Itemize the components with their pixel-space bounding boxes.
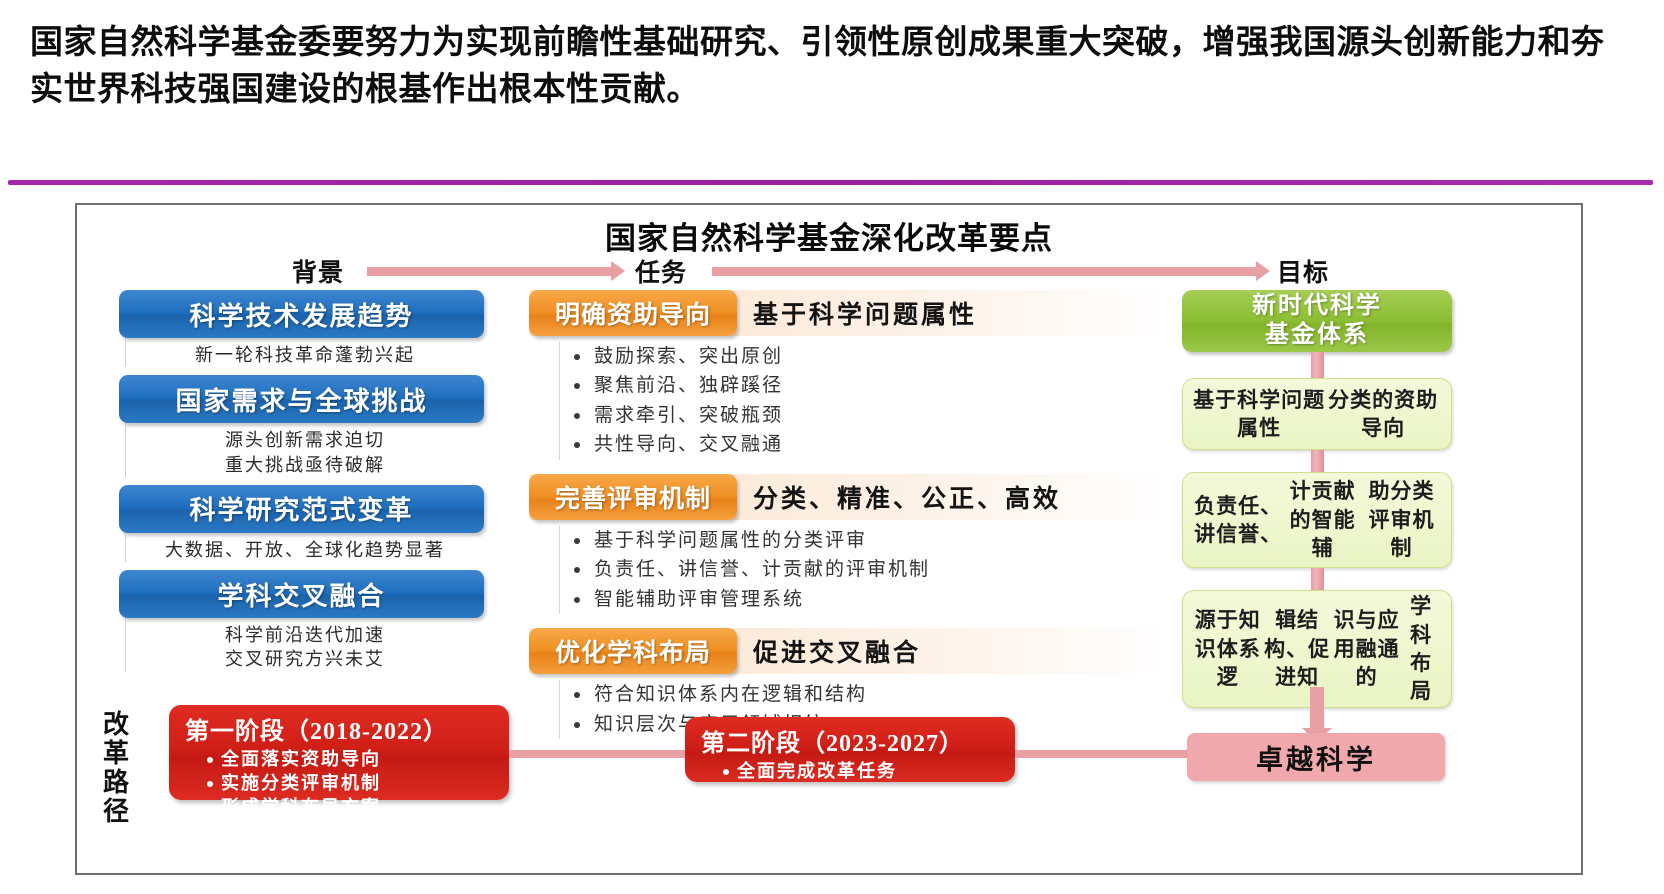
phase-bullet-list: 全面完成改革任务 [719, 760, 999, 784]
phase-box-1: 第一阶段（2018-2022） 全面落实资助导向 实施分类评审机制 形成学科布局… [169, 705, 509, 800]
arrow-task-to-goal [712, 267, 1257, 276]
phase-title: 第一阶段（2018-2022） [185, 711, 493, 746]
goal-item: 负责任、讲信誉、计贡献的智能辅助分类评审机制 [1182, 472, 1452, 568]
goal-item: 基于科学问题属性分类的资助导向 [1182, 378, 1452, 450]
task-pill: 明确资助导向 [529, 290, 737, 336]
diagram-frame: 国家自然科学基金深化改革要点 背景 任务 目标 科学技术发展趋势 新一轮科技革命… [75, 203, 1583, 875]
background-item-caption: 科学前沿迭代加速交叉研究方兴未艾 [125, 618, 484, 672]
background-item: 学科交叉融合 科学前沿迭代加速交叉研究方兴未艾 [119, 570, 484, 672]
header-background: 背景 [292, 253, 344, 289]
phase-box-2: 第二阶段（2023-2027） 全面完成改革任务 [685, 717, 1015, 782]
task-subtitle: 分类、精准、公正、高效 [753, 479, 1061, 515]
path-arrow-1 [509, 750, 689, 758]
background-column: 科学技术发展趋势 新一轮科技革命蓬勃兴起 国家需求与全球挑战 源头创新需求迫切重… [119, 290, 484, 680]
goal-connector [1311, 450, 1324, 472]
goal-head: 新时代科学基金体系 [1182, 290, 1452, 352]
background-item: 国家需求与全球挑战 源头创新需求迫切重大挑战亟待破解 [119, 375, 484, 477]
task-subtitle: 基于科学问题属性 [753, 295, 977, 331]
goal-to-outcome-arrow [1310, 687, 1324, 729]
task-bullet: 负责任、讲信誉、计贡献的评审机制 [594, 555, 1169, 584]
goal-connector [1311, 568, 1324, 590]
task-item: 完善评审机制 分类、精准、公正、高效 基于科学问题属性的分类评审 负责任、讲信誉… [529, 474, 1169, 614]
task-bullet-list: 基于科学问题属性的分类评审 负责任、讲信誉、计贡献的评审机制 智能辅助评审管理系… [559, 526, 1169, 614]
task-bullet: 基于科学问题属性的分类评审 [594, 526, 1169, 555]
background-item-title: 科学研究范式变革 [119, 485, 484, 533]
task-header: 明确资助导向 基于科学问题属性 [529, 290, 1169, 336]
arrow-background-to-task [367, 267, 612, 276]
purple-divider [8, 180, 1653, 185]
background-item-title: 科学技术发展趋势 [119, 290, 484, 338]
task-bullet: 符合知识体系内在逻辑和结构 [594, 680, 1169, 709]
task-pill: 完善评审机制 [529, 474, 737, 520]
page-headline: 国家自然科学基金委要努力为实现前瞻性基础研究、引领性原创成果重大突破，增强我国源… [30, 20, 1630, 114]
phase-bullet: 实施分类评审机制 [221, 772, 493, 796]
task-pill: 优化学科布局 [529, 628, 737, 674]
task-header: 完善评审机制 分类、精准、公正、高效 [529, 474, 1169, 520]
outcome-box: 卓越科学 [1187, 733, 1445, 781]
background-item: 科学技术发展趋势 新一轮科技革命蓬勃兴起 [119, 290, 484, 367]
background-item-caption: 源头创新需求迫切重大挑战亟待破解 [125, 423, 484, 477]
task-header: 优化学科布局 促进交叉融合 [529, 628, 1169, 674]
task-bullet: 鼓励探索、突出原创 [594, 342, 1169, 371]
phase-bullet: 全面完成改革任务 [737, 760, 999, 784]
phase-bullet-list: 全面落实资助导向 实施分类评审机制 形成学科布局方案 [203, 748, 493, 820]
background-item-caption: 新一轮科技革命蓬勃兴起 [125, 338, 484, 367]
diagram-title: 国家自然科学基金深化改革要点 [77, 213, 1581, 258]
task-bullet: 聚焦前沿、独辟蹊径 [594, 371, 1169, 400]
phase-bullet: 形成学科布局方案 [221, 796, 493, 820]
task-item: 明确资助导向 基于科学问题属性 鼓励探索、突出原创 聚焦前沿、独辟蹊径 需求牵引… [529, 290, 1169, 460]
header-goal: 目标 [1277, 253, 1329, 289]
phase-title: 第二阶段（2023-2027） [701, 723, 999, 758]
task-bullet-list: 鼓励探索、突出原创 聚焦前沿、独辟蹊径 需求牵引、突破瓶颈 共性导向、交叉融通 [559, 342, 1169, 460]
goal-connector [1311, 352, 1324, 378]
phase-bullet: 全面落实资助导向 [221, 748, 493, 772]
background-item: 科学研究范式变革 大数据、开放、全球化趋势显著 [119, 485, 484, 562]
background-item-title: 学科交叉融合 [119, 570, 484, 618]
task-subtitle: 促进交叉融合 [753, 633, 921, 669]
path-arrow-2 [1015, 750, 1193, 758]
background-item-caption: 大数据、开放、全球化趋势显著 [125, 533, 484, 562]
background-item-title: 国家需求与全球挑战 [119, 375, 484, 423]
task-column: 明确资助导向 基于科学问题属性 鼓励探索、突出原创 聚焦前沿、独辟蹊径 需求牵引… [529, 290, 1169, 753]
task-bullet: 智能辅助评审管理系统 [594, 585, 1169, 614]
task-bullet: 需求牵引、突破瓶颈 [594, 401, 1169, 430]
header-task: 任务 [635, 253, 687, 289]
reform-path-label: 改革路径 [99, 710, 133, 826]
goal-column: 新时代科学基金体系 基于科学问题属性分类的资助导向 负责任、讲信誉、计贡献的智能… [1182, 290, 1452, 708]
task-bullet: 共性导向、交叉融通 [594, 430, 1169, 459]
